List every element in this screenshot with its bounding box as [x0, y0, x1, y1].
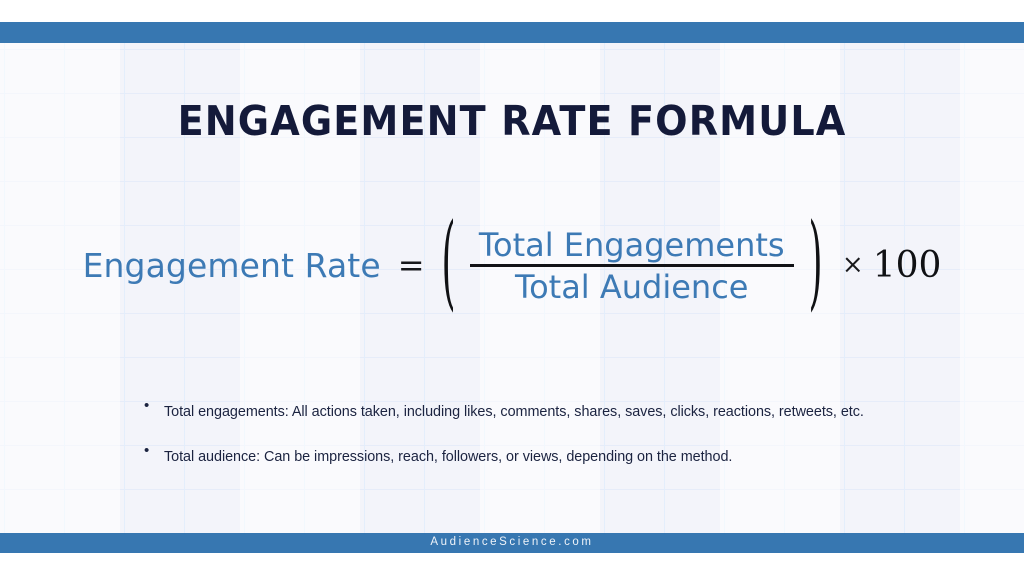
- top-accent-bar: [0, 22, 1024, 43]
- fraction-denominator: Total Audience: [513, 267, 751, 304]
- list-item-label: Total audience: Can be impressions, reac…: [164, 441, 732, 473]
- close-paren-icon: ): [808, 264, 822, 269]
- fraction-numerator: Total Engagements: [477, 228, 787, 264]
- bottom-margin: [0, 553, 1024, 576]
- footer-bar: AudienceScience.com: [0, 533, 1024, 553]
- bullet-dot-icon: •: [140, 441, 164, 461]
- slide: ENGAGEMENT RATE FORMULA Engagement Rate …: [0, 0, 1024, 576]
- formula-left-side: Engagement Rate: [83, 246, 381, 287]
- open-paren-icon: (: [441, 264, 455, 269]
- top-margin: [0, 0, 1024, 22]
- formula-multiplier: 100: [873, 245, 942, 288]
- bullet-dot-icon: •: [140, 396, 164, 416]
- engagement-rate-formula: Engagement Rate = ( Total Engagements To…: [0, 228, 1024, 304]
- page-title: ENGAGEMENT RATE FORMULA: [36, 97, 988, 145]
- footer-brand-label: AudienceScience.com: [430, 537, 593, 549]
- definitions-list: • Total engagements: All actions taken, …: [140, 396, 930, 486]
- formula-fraction: Total Engagements Total Audience: [470, 228, 794, 304]
- multiply-icon: ×: [842, 250, 864, 282]
- list-item: • Total engagements: All actions taken, …: [140, 396, 930, 428]
- list-item: • Total audience: Can be impressions, re…: [140, 441, 930, 473]
- equals-sign: =: [398, 246, 425, 287]
- list-item-label: Total engagements: All actions taken, in…: [164, 396, 864, 428]
